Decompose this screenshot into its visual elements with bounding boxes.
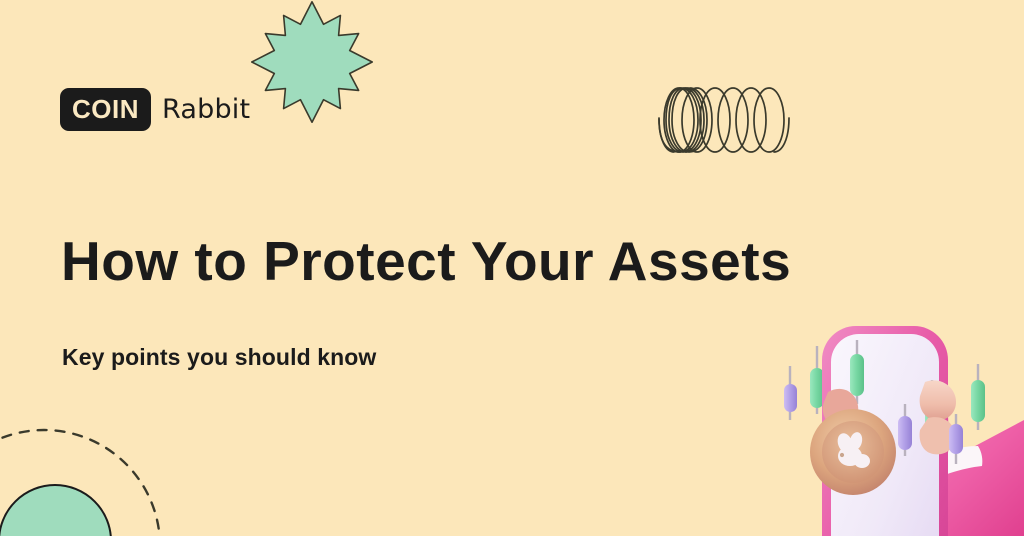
logo-coin-badge: COIN — [60, 88, 151, 131]
mint-circle-shape — [0, 485, 111, 536]
spiral-coil-icon — [659, 88, 701, 152]
page-subtitle: Key points you should know — [62, 344, 376, 371]
finger-top — [920, 380, 956, 420]
spiral-coil-loops — [664, 88, 784, 152]
dashed-circle-arc — [0, 430, 160, 536]
hand-holding-phone-illustration — [770, 300, 1024, 536]
logo-rabbit-word: Rabbit — [162, 94, 250, 125]
brand-logo[interactable]: COIN Rabbit — [60, 88, 250, 131]
spiral-coil-tail-right — [774, 118, 789, 152]
page-title: How to Protect Your Assets — [61, 232, 791, 291]
spiral-coil-icon-2 — [672, 88, 707, 152]
starburst-icon — [252, 2, 372, 122]
spiral-coil-tail-left — [659, 118, 674, 152]
promo-banner: COIN Rabbit How to Protect Your Assets K… — [0, 0, 1024, 536]
